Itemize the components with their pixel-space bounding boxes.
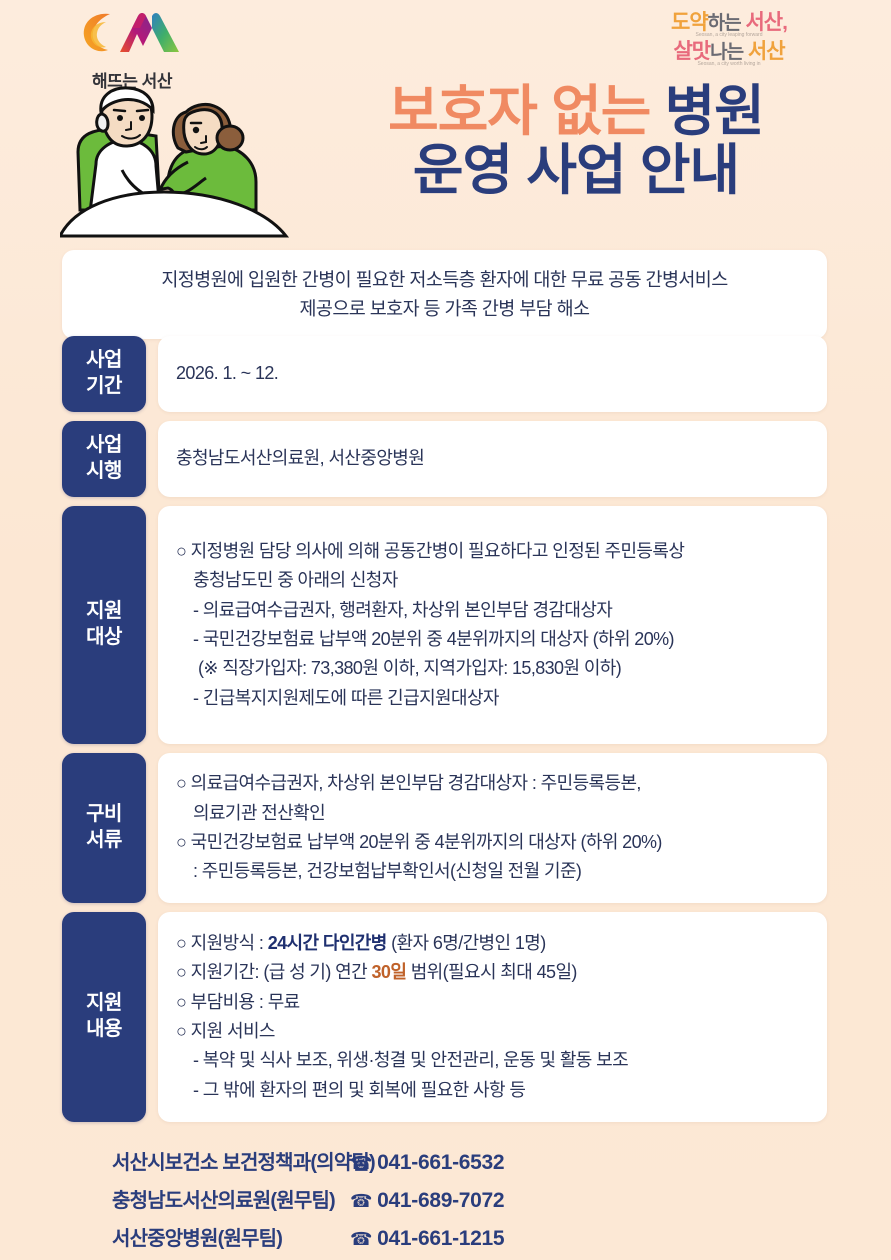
telephone-icon: ☎ [350, 1229, 372, 1249]
text-line: - 그 밖에 환자의 편의 및 회복에 필요한 사항 등 [176, 1077, 809, 1104]
text-line: 의료기관 전산확인 [176, 800, 809, 827]
city-slogan: 도약하는 서산, Seosan, a city leaping forward … [629, 12, 829, 68]
title-orange-text: 보호자 없는 [388, 80, 650, 142]
label-line-2: 서류 [86, 828, 122, 854]
text-line: ○ 의료급여수급권자, 차상위 본인부담 경감대상자 : 주민등록등본, [176, 770, 809, 797]
contact-phone-number: 041-689-7072 [377, 1189, 504, 1212]
row-body-support-details: ○ 지원방식 : 24시간 다인간병 (환자 6명/간병인 1명) ○ 지원기간… [158, 912, 827, 1122]
seg-prefix: ○ 지원방식 : [176, 933, 268, 953]
row-label-project-period: 사업 기간 [62, 336, 146, 412]
contact-org: 충청남도서산의료원(원무팀) [0, 1184, 350, 1213]
text-line: 충청남도민 중 아래의 신청자 [176, 567, 809, 594]
slogan-l2-c: 서산 [748, 40, 785, 63]
slogan-l2-sub: Seosan, a city worth living in [629, 62, 829, 67]
text-line: ○ 지원 서비스 [176, 1018, 809, 1045]
info-rows: 사업 기간 2026. 1. ~ 12. 사업 시행 충청남도서산의료원, 서산… [62, 336, 827, 1131]
seg-highlight: 30일 [372, 962, 407, 982]
sunrise-seosan-logo-icon [80, 8, 184, 60]
seg-bold: 24시간 다인간병 [268, 933, 387, 953]
row-support-details: 지원 내용 ○ 지원방식 : 24시간 다인간병 (환자 6명/간병인 1명) … [62, 912, 827, 1122]
row-body-project-period: 2026. 1. ~ 12. [158, 336, 827, 412]
contact-row: 서산시보건소 보건정책과(의약팀) ☎041-661-6532 [0, 1146, 891, 1175]
label-line-1: 사업 [86, 433, 122, 459]
label-line-2: 시행 [86, 459, 122, 485]
row-body-operating-hospitals: 충청남도서산의료원, 서산중앙병원 [158, 421, 827, 497]
slogan-line-1: 도약하는 서산, Seosan, a city leaping forward [629, 12, 829, 38]
contact-row: 충청남도서산의료원(원무팀) ☎041-689-7072 [0, 1184, 891, 1213]
text-line: 충청남도서산의료원, 서산중앙병원 [176, 445, 809, 472]
text-line: ○ 지정병원 담당 의사에 의해 공동간병이 필요하다고 인정된 주민등록상 [176, 538, 809, 565]
slogan-line-2: 살맛나는 서산 Seosan, a city worth living in [629, 41, 829, 67]
label-line-2: 기간 [86, 374, 122, 400]
row-operating-hospitals: 사업 시행 충청남도서산의료원, 서산중앙병원 [62, 421, 827, 497]
summary-line-2: 제공으로 보호자 등 가족 간병 부담 해소 [82, 295, 807, 324]
telephone-icon: ☎ [350, 1191, 372, 1211]
title-line-1: 보호자 없는 병원 [316, 82, 836, 141]
text-line-support-duration: ○ 지원기간: (급 성 기) 연간 30일 범위(필요시 최대 45일) [176, 959, 809, 986]
poster-title: 보호자 없는 병원 운영 사업 안내 [316, 82, 836, 201]
row-body-required-documents: ○ 의료급여수급권자, 차상위 본인부담 경감대상자 : 주민등록등본, 의료기… [158, 753, 827, 903]
contact-phone[interactable]: ☎041-661-1215 [350, 1227, 504, 1251]
seg-prefix: ○ 지원기간: (급 성 기) 연간 [176, 962, 372, 982]
text-line: ○ 국민건강보험료 납부액 20분위 중 4분위까지의 대상자 (하위 20%) [176, 829, 809, 856]
text-line: ○ 부담비용 : 무료 [176, 989, 809, 1016]
row-label-operating-hospitals: 사업 시행 [62, 421, 146, 497]
row-label-eligibility: 지원 대상 [62, 506, 146, 744]
slogan-l1-b: 하는 [708, 13, 741, 34]
label-line-2: 대상 [86, 625, 122, 651]
slogan-l1-sub: Seosan, a city leaping forward [629, 33, 829, 38]
text-line: 2026. 1. ~ 12. [176, 360, 809, 387]
poster-root: 해뜨는 서산 도약하는 서산, Seosan, a city leaping f… [0, 0, 891, 1260]
label-line-2: 내용 [86, 1017, 122, 1043]
row-label-support-details: 지원 내용 [62, 912, 146, 1122]
slogan-l2-b: 나는 [710, 42, 743, 63]
label-line-1: 지원 [86, 599, 122, 625]
contact-footer: 서산시보건소 보건정책과(의약팀) ☎041-661-6532 충청남도서산의료… [0, 1146, 891, 1260]
slogan-l1-c: 서산, [745, 11, 786, 34]
contact-phone-number: 041-661-1215 [377, 1227, 504, 1250]
text-line: - 의료급여수급권자, 행려환자, 차상위 본인부담 경감대상자 [176, 597, 809, 624]
row-label-required-documents: 구비 서류 [62, 753, 146, 903]
row-body-eligibility: ○ 지정병원 담당 의사에 의해 공동간병이 필요하다고 인정된 주민등록상 충… [158, 506, 827, 744]
summary-line-1: 지정병원에 입원한 간병이 필요한 저소득층 환자에 대한 무료 공동 간병서비… [82, 266, 807, 295]
contact-phone[interactable]: ☎041-689-7072 [350, 1189, 504, 1213]
title-navy-text: 병원 [665, 80, 764, 142]
telephone-icon: ☎ [350, 1153, 372, 1173]
label-line-1: 구비 [86, 802, 122, 828]
text-line: - 국민건강보험료 납부액 20분위 중 4분위까지의 대상자 (하위 20%) [176, 626, 809, 653]
contact-row: 서산중앙병원(원무팀) ☎041-661-1215 [0, 1222, 891, 1251]
contact-phone[interactable]: ☎041-661-6532 [350, 1151, 504, 1175]
label-line-1: 지원 [86, 991, 122, 1017]
text-line: - 긴급복지지원제도에 따른 긴급지원대상자 [176, 685, 809, 712]
slogan-l2-a: 살맛 [673, 40, 710, 63]
text-line: (※ 직장가입자: 73,380원 이하, 지역가입자: 15,830원 이하) [176, 655, 809, 682]
summary-box: 지정병원에 입원한 간병이 필요한 저소득층 환자에 대한 무료 공동 간병서비… [62, 250, 827, 339]
text-line: : 주민등록등본, 건강보험납부확인서(신청일 전월 기준) [176, 858, 809, 885]
title-line-2: 운영 사업 안내 [316, 141, 836, 200]
row-required-documents: 구비 서류 ○ 의료급여수급권자, 차상위 본인부담 경감대상자 : 주민등록등… [62, 753, 827, 903]
slogan-l1-a: 도약 [671, 11, 708, 34]
label-line-1: 사업 [86, 348, 122, 374]
text-line: - 복약 및 식사 보조, 위생·청결 및 안전관리, 운동 및 활동 보조 [176, 1047, 809, 1074]
text-line-support-method: ○ 지원방식 : 24시간 다인간병 (환자 6명/간병인 1명) [176, 930, 809, 957]
contact-org: 서산시보건소 보건정책과(의약팀) [0, 1146, 350, 1175]
seg-after: (환자 6명/간병인 1명) [387, 933, 546, 953]
contact-phone-number: 041-661-6532 [377, 1151, 504, 1174]
poster-header: 해뜨는 서산 도약하는 서산, Seosan, a city leaping f… [0, 0, 891, 240]
seg-after: 범위(필요시 최대 45일) [406, 962, 577, 982]
row-project-period: 사업 기간 2026. 1. ~ 12. [62, 336, 827, 412]
contact-org: 서산중앙병원(원무팀) [0, 1222, 350, 1251]
row-eligibility: 지원 대상 ○ 지정병원 담당 의사에 의해 공동간병이 필요하다고 인정된 주… [62, 506, 827, 744]
caregiver-and-elderly-patient-illustration [60, 78, 300, 238]
